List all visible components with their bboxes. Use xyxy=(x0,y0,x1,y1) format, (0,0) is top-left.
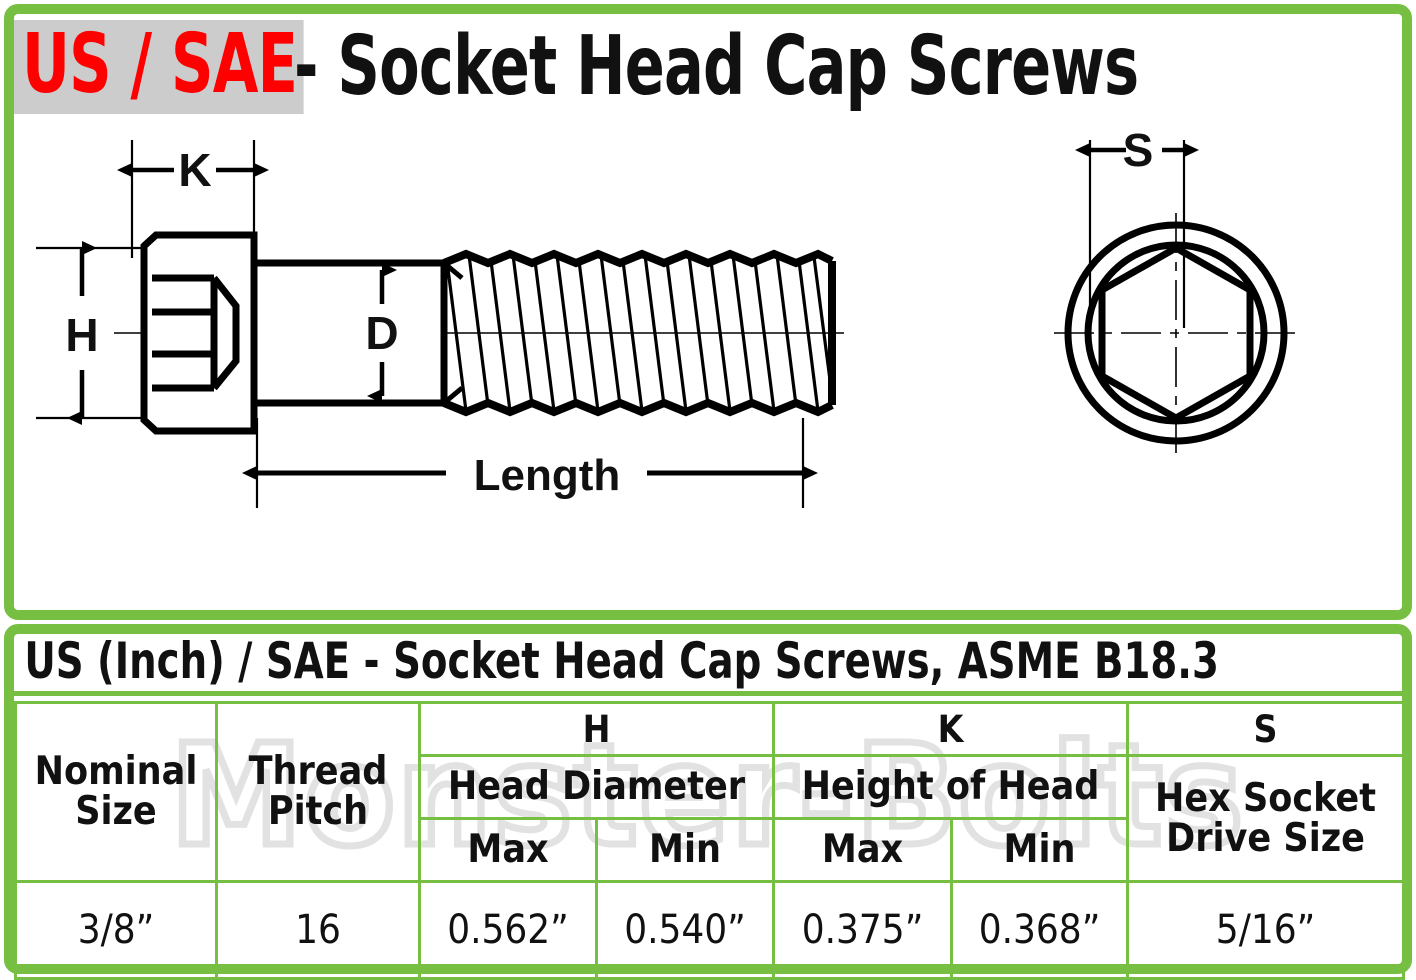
table-caption-text: US (Inch) / SAE - Socket Head Cap Screws… xyxy=(14,632,1219,690)
d-dimension-label: D xyxy=(365,307,398,359)
table-row-symbols: Nominal Size Thread Pitch H K S xyxy=(16,703,1404,756)
screw-spec-sheet: US / SAE - Socket Head Cap Screws xyxy=(0,0,1416,978)
cell-head-diameter-max: 0.562” xyxy=(420,882,597,979)
s-dimension-label: S xyxy=(1123,124,1154,176)
col-height-of-head-max: Max xyxy=(774,819,952,882)
title-remainder: - Socket Head Cap Screws xyxy=(294,24,1138,110)
cell-nominal-size: 3/8” xyxy=(16,882,217,979)
col-thread-pitch: Thread Pitch xyxy=(217,703,420,882)
col-height-of-head-min: Min xyxy=(952,819,1128,882)
length-dimension-label: Length xyxy=(474,451,621,500)
col-thread-pitch-line1: Thread xyxy=(219,752,417,792)
col-hex-socket-line1: Hex Socket xyxy=(1130,779,1401,819)
col-nominal-size: Nominal Size xyxy=(16,703,217,882)
table-row: 3/8” 16 0.562” 0.540” 0.375” 0.368” 5/16… xyxy=(16,882,1404,979)
symbol-k: K xyxy=(774,703,1128,756)
page-title: US / SAE - Socket Head Cap Screws xyxy=(14,14,1402,120)
col-thread-pitch-line2: Pitch xyxy=(219,792,417,832)
col-nominal-size-line2: Size xyxy=(18,792,214,832)
screw-shank xyxy=(254,263,444,403)
screw-drawing-svg: K H D Length S xyxy=(14,118,1402,614)
col-height-of-head: Height of Head xyxy=(774,756,1128,819)
thread-crest-top xyxy=(444,254,832,263)
cell-height-of-head-max: 0.375” xyxy=(774,882,952,979)
spec-table-wrapper: Monster-Bolts Nominal Size xyxy=(14,701,1402,968)
col-head-diameter-max: Max xyxy=(420,819,597,882)
k-dimension-label: K xyxy=(178,144,211,196)
spec-table: Nominal Size Thread Pitch H K S Head Dia… xyxy=(14,701,1405,980)
col-head-diameter-min: Min xyxy=(597,819,774,882)
symbol-s: S xyxy=(1128,703,1404,756)
col-nominal-size-line1: Nominal xyxy=(18,752,214,792)
cell-height-of-head-min: 0.368” xyxy=(952,882,1128,979)
col-hex-socket-line2: Drive Size xyxy=(1130,819,1401,859)
title-badge-us-sae: US / SAE xyxy=(14,20,304,114)
cell-head-diameter-min: 0.540” xyxy=(597,882,774,979)
cell-hex-socket-drive-size: 5/16” xyxy=(1128,882,1404,979)
col-hex-socket: Hex Socket Drive Size xyxy=(1128,756,1404,882)
col-head-diameter: Head Diameter xyxy=(420,756,774,819)
screw-technical-drawing: K H D Length S xyxy=(14,118,1402,614)
table-caption: US (Inch) / SAE - Socket Head Cap Screws… xyxy=(14,630,1402,696)
cell-thread-pitch: 16 xyxy=(217,882,420,979)
symbol-h: H xyxy=(420,703,774,756)
h-dimension-label: H xyxy=(65,309,98,361)
